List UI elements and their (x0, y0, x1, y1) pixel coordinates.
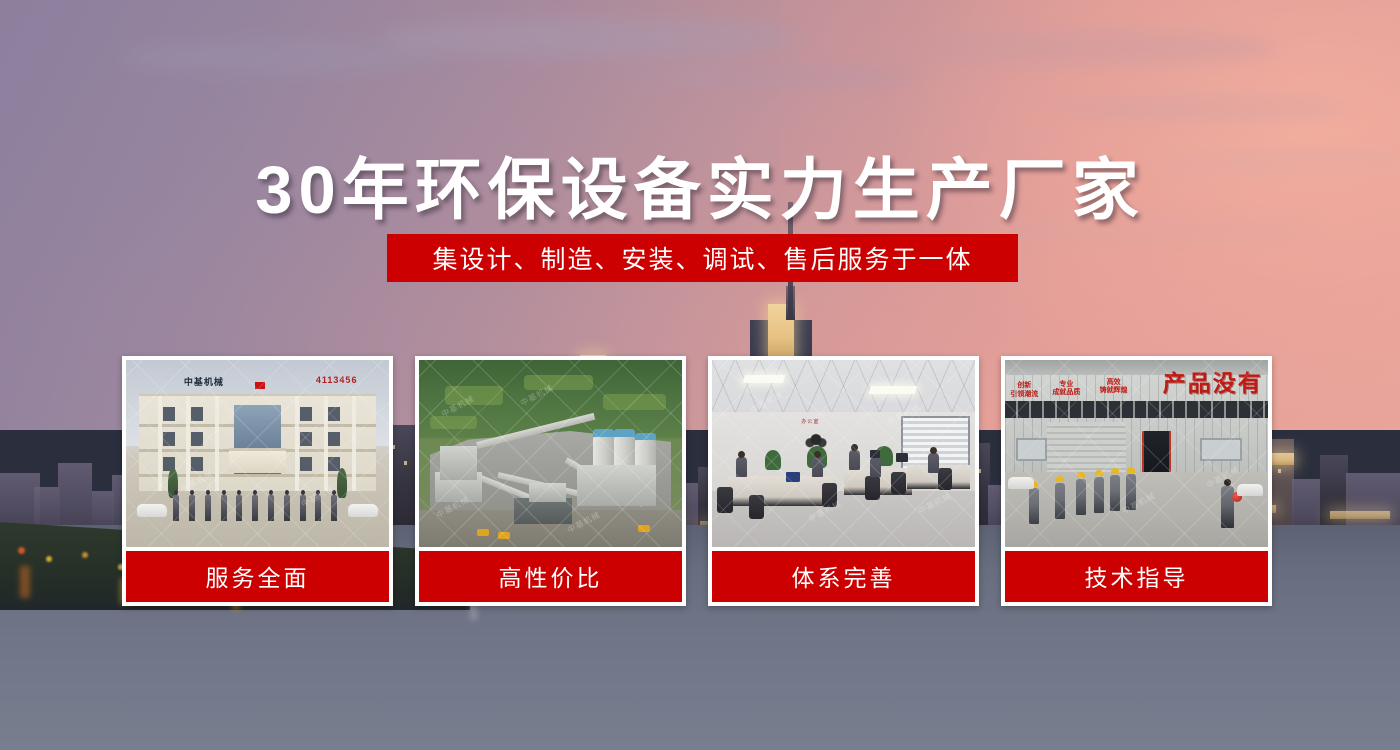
card-caption: 服务全面 (126, 551, 389, 602)
hero-banner: 30年环保设备实力生产厂家 集设计、制造、安装、调试、售后服务于一体 (0, 0, 1400, 750)
feature-card[interactable]: 产品没有 创新引领潮流 专业成就品质 高效铸就辉煌 (1001, 356, 1272, 606)
subtitle-banner: 集设计、制造、安装、调试、售后服务于一体 (387, 234, 1018, 282)
page-title: 30年环保设备实力生产厂家 (0, 136, 1400, 233)
company-headquarters-photo: 中基机械 4113456 中基机械 中基机械 (126, 360, 389, 547)
cloud-shape (900, 30, 1280, 66)
cloud-shape (1050, 95, 1350, 121)
building-phone-text: 4113456 (316, 375, 358, 385)
feature-card[interactable]: 办公室 (708, 356, 979, 606)
shore-light (82, 552, 88, 558)
subtitle-text: 集设计、制造、安装、调试、售后服务于一体 (432, 240, 972, 276)
card-caption: 技术指导 (1005, 551, 1268, 602)
factory-sign-text: 产品没有 (1163, 364, 1263, 398)
feature-card-list: 中基机械 4113456 中基机械 中基机械 (122, 356, 1272, 606)
shore-light (46, 556, 52, 562)
cloud-shape (620, 66, 920, 88)
building-sign-text: 中基机械 (184, 375, 224, 388)
office-interior-photo: 办公室 (712, 360, 975, 547)
flag-icon (255, 382, 265, 389)
feature-card[interactable]: 中基机械 中基机械 中基机械 中基机械 高性价比 (415, 356, 686, 606)
shore-light (18, 547, 25, 554)
aerial-plant-photo: 中基机械 中基机械 中基机械 中基机械 (419, 360, 682, 547)
cloud-shape (380, 18, 800, 58)
water-reflection (20, 566, 30, 598)
factory-workers-photo: 产品没有 创新引领潮流 专业成就品质 高效铸就辉煌 (1005, 360, 1268, 547)
feature-card[interactable]: 中基机械 4113456 中基机械 中基机械 (122, 356, 393, 606)
card-caption: 高性价比 (419, 551, 682, 602)
card-caption: 体系完善 (712, 551, 975, 602)
